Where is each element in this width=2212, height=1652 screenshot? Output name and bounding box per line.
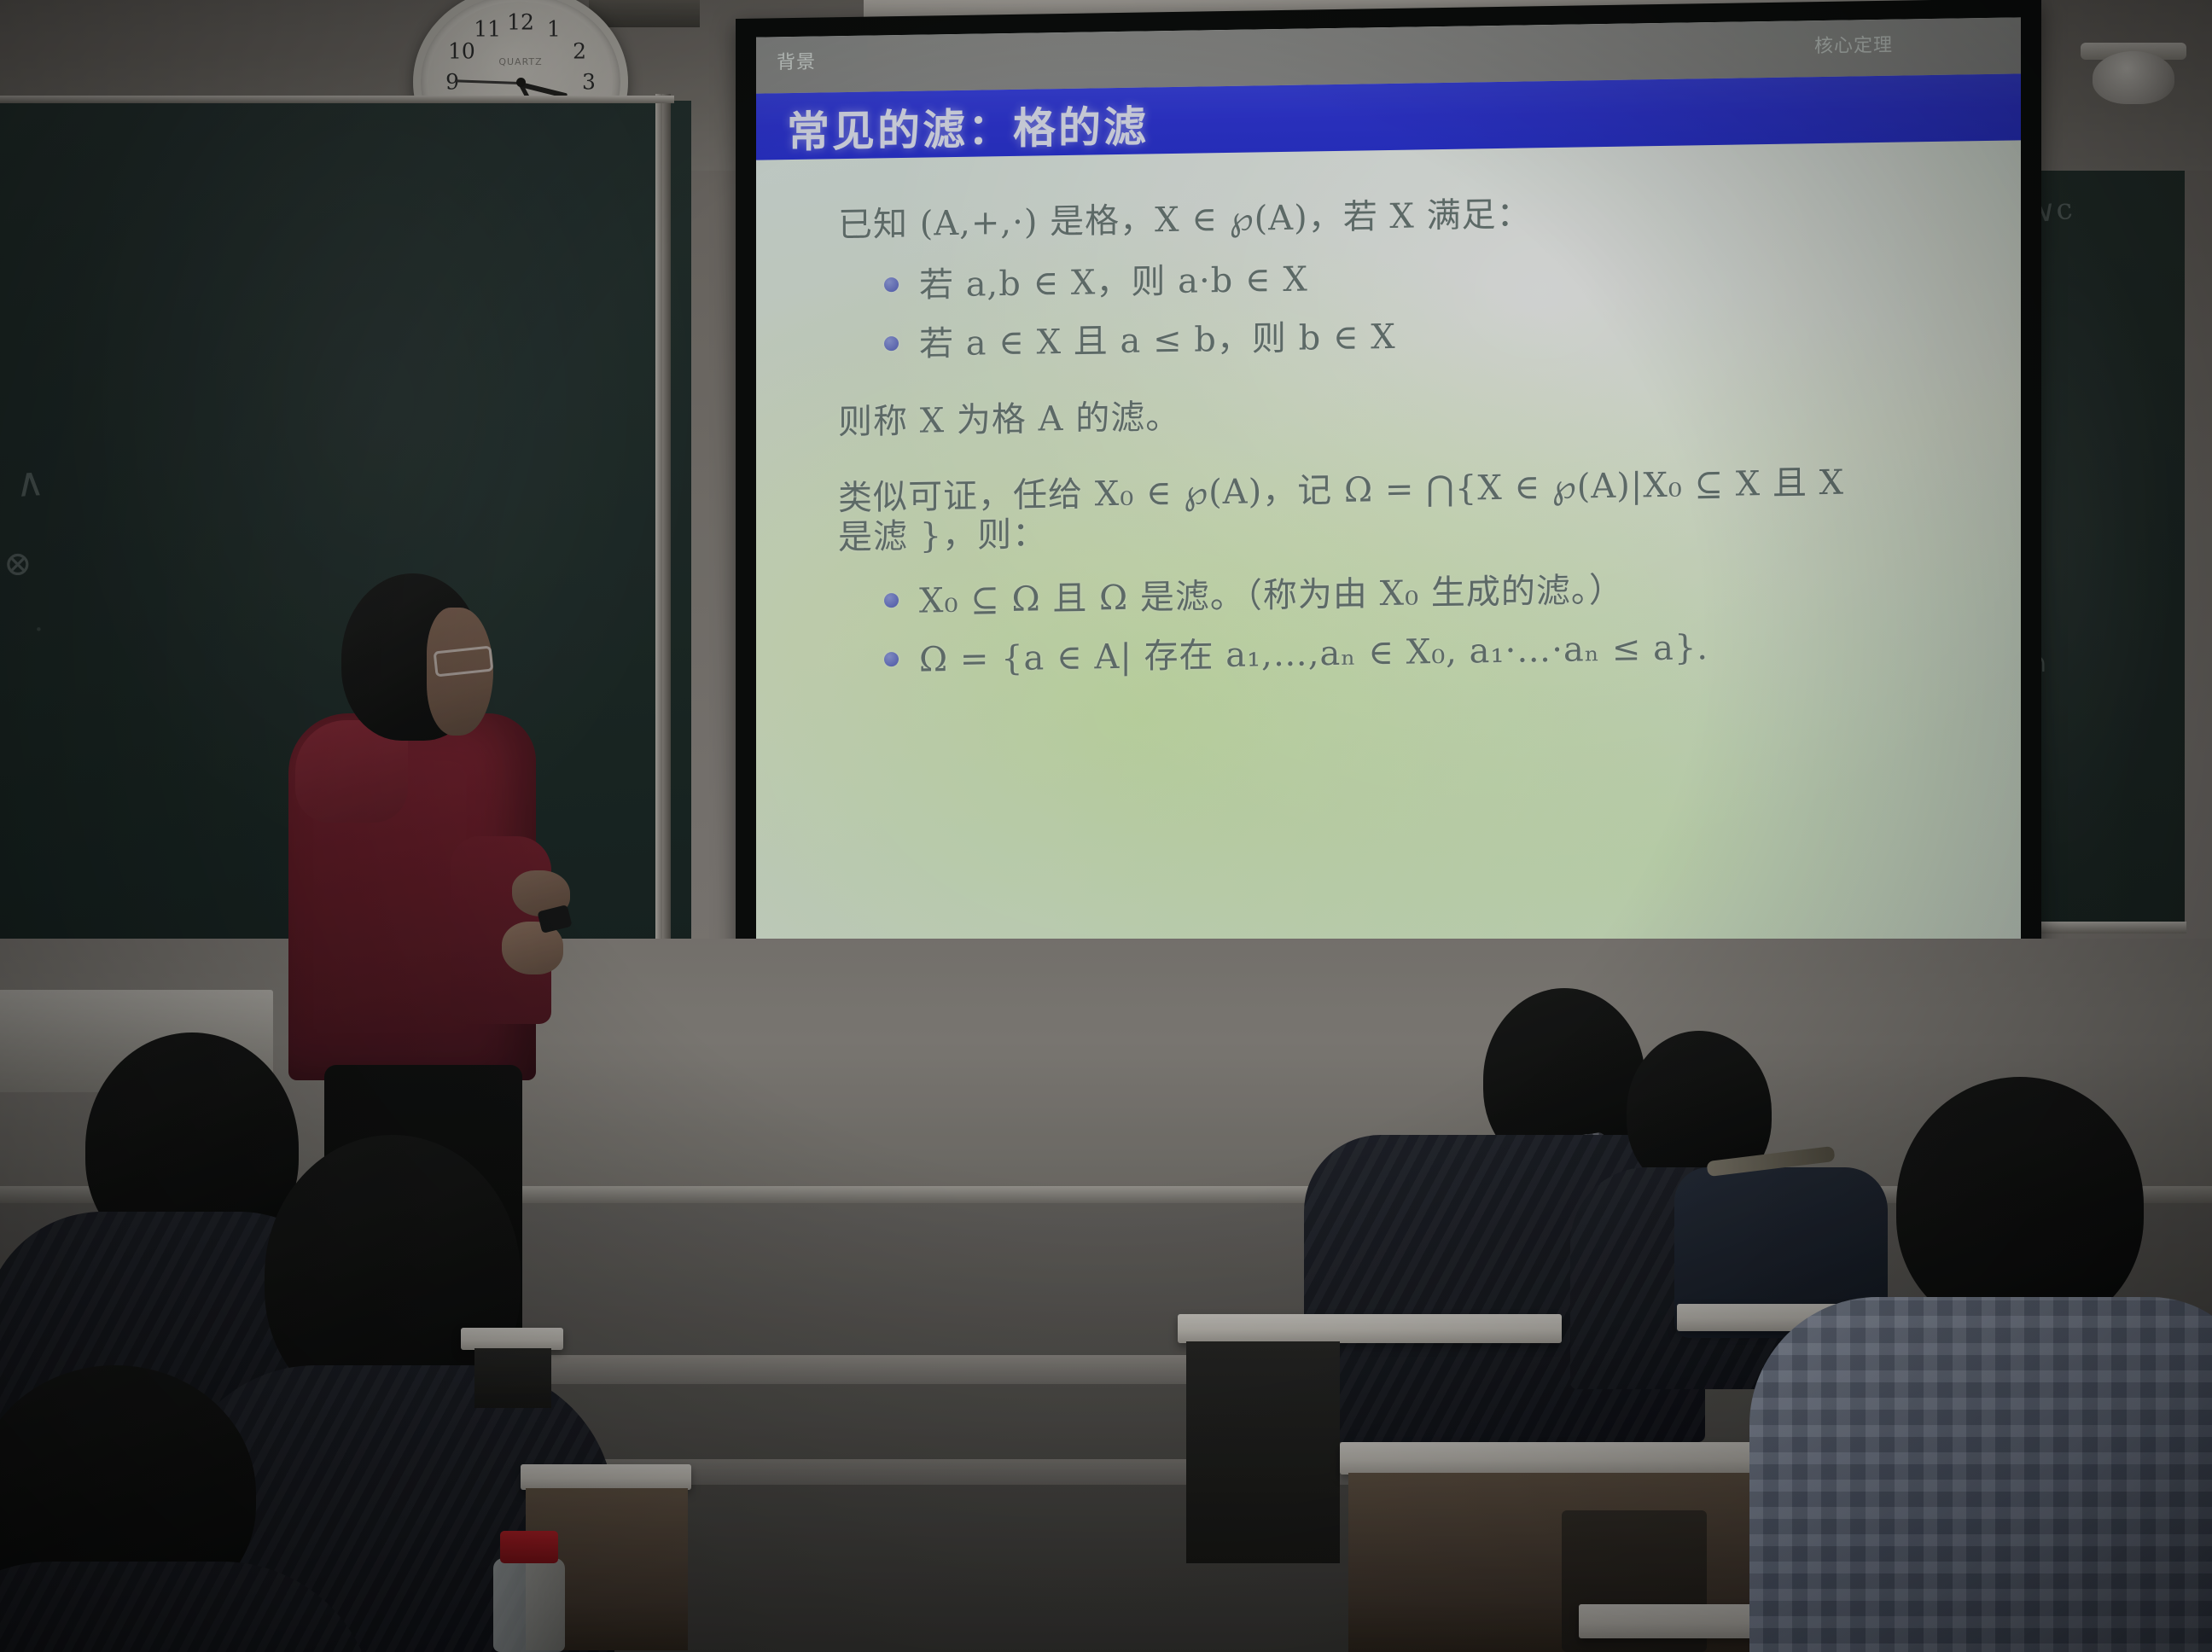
bullet-dot-icon [884,277,899,292]
slide-bullet-item: 若 a ∈ X 且 a ≤ b，则 b ∈ X [884,309,1987,365]
screen-surface: 背景 核心定理 常见的滤：格的滤 已知 (A,+,·) 是格，X ∈ ℘(A)，… [756,17,2021,986]
bullet-dot-icon [884,336,899,351]
desk-frame [474,1348,551,1408]
clock-number-3: 3 [582,70,596,95]
slide-bullet-item: X₀ ⊆ Ω 且 Ω 是滤。（称为由 X₀ 生成的滤。） [884,566,1987,622]
slide-bullet-item: Ω = {a ∈ A| 存在 a₁,…,aₙ ∈ X₀, a₁·…·aₙ ≤ a… [884,625,1987,681]
blackboard-frame-top [0,96,674,103]
slide-paragraph-1: 已知 (A,+,·) 是格，X ∈ ℘(A)，若 X 满足： [838,189,1987,246]
clock-number-11: 11 [474,16,501,41]
bullet-dot-icon [884,593,899,608]
slide-bullet-list-1: 若 a,b ∈ X，则 a·b ∈ X 若 a ∈ X 且 a ≤ b，则 b … [884,250,1987,365]
clock-brand-label: QUARTZ [498,56,542,67]
bullet-dot-icon [884,652,899,666]
classroom-scene: 12 1 2 3 4 5 6 7 8 9 10 11 QUARTZ ∧ ⊗ · … [0,0,2212,1652]
projection-screen: 背景 核心定理 常见的滤：格的滤 已知 (A,+,·) 是格，X ∈ ℘(A)，… [736,0,2048,1015]
clock-number-2: 2 [573,39,586,64]
student-head [1896,1077,2144,1333]
slide-paragraph-2: 则称 X 为格 A 的滤。 [838,386,1987,443]
desk-surface [461,1328,563,1350]
chalk-mark: ∧ [14,458,45,506]
desk-frame [1186,1341,1340,1563]
desk-surface [1178,1314,1562,1343]
clock-number-1: 1 [547,16,561,41]
slide-bullet-item: 若 a,b ∈ X，则 a·b ∈ X [884,250,1987,306]
slide-body: 已知 (A,+,·) 是格，X ∈ ℘(A)，若 X 满足： 若 a,b ∈ X… [838,189,1987,702]
clock-second-hand [456,79,521,84]
slide-bullet-text: 若 a,b ∈ X，则 a·b ∈ X [919,260,1308,305]
desk-surface [1340,1442,1792,1475]
clock-number-10: 10 [448,39,475,64]
student-shoulders [1749,1297,2212,1652]
slide-bullet-text: Ω = {a ∈ A| 存在 a₁,…,aₙ ∈ X₀, a₁·…·aₙ ≤ a… [919,629,1708,680]
slide-bullet-text: X₀ ⊆ Ω 且 Ω 是滤。（称为由 X₀ 生成的滤。） [919,571,1624,621]
slide-bullet-list-2: X₀ ⊆ Ω 且 Ω 是滤。（称为由 X₀ 生成的滤。） Ω = {a ∈ A|… [884,566,1987,681]
slide-header-right-label: 核心定理 [1814,30,1893,58]
ceiling-dome-camera [2093,51,2174,104]
slide-title: 常见的滤：格的滤 [787,92,1149,160]
slide-bullet-text: 若 a ∈ X 且 a ≤ b，则 b ∈ X [919,318,1396,364]
desk-surface [521,1464,691,1490]
clock-number-12: 12 [507,10,534,35]
blackboard-frame-right-2 [662,94,671,956]
water-bottle [493,1558,565,1652]
water-bottle-cap [500,1531,558,1563]
slide-header-left-label: 背景 [777,47,816,75]
chalk-mark: · [34,613,44,647]
clock-center-pin [516,78,526,87]
chalk-mark: ⊗ [3,544,32,584]
